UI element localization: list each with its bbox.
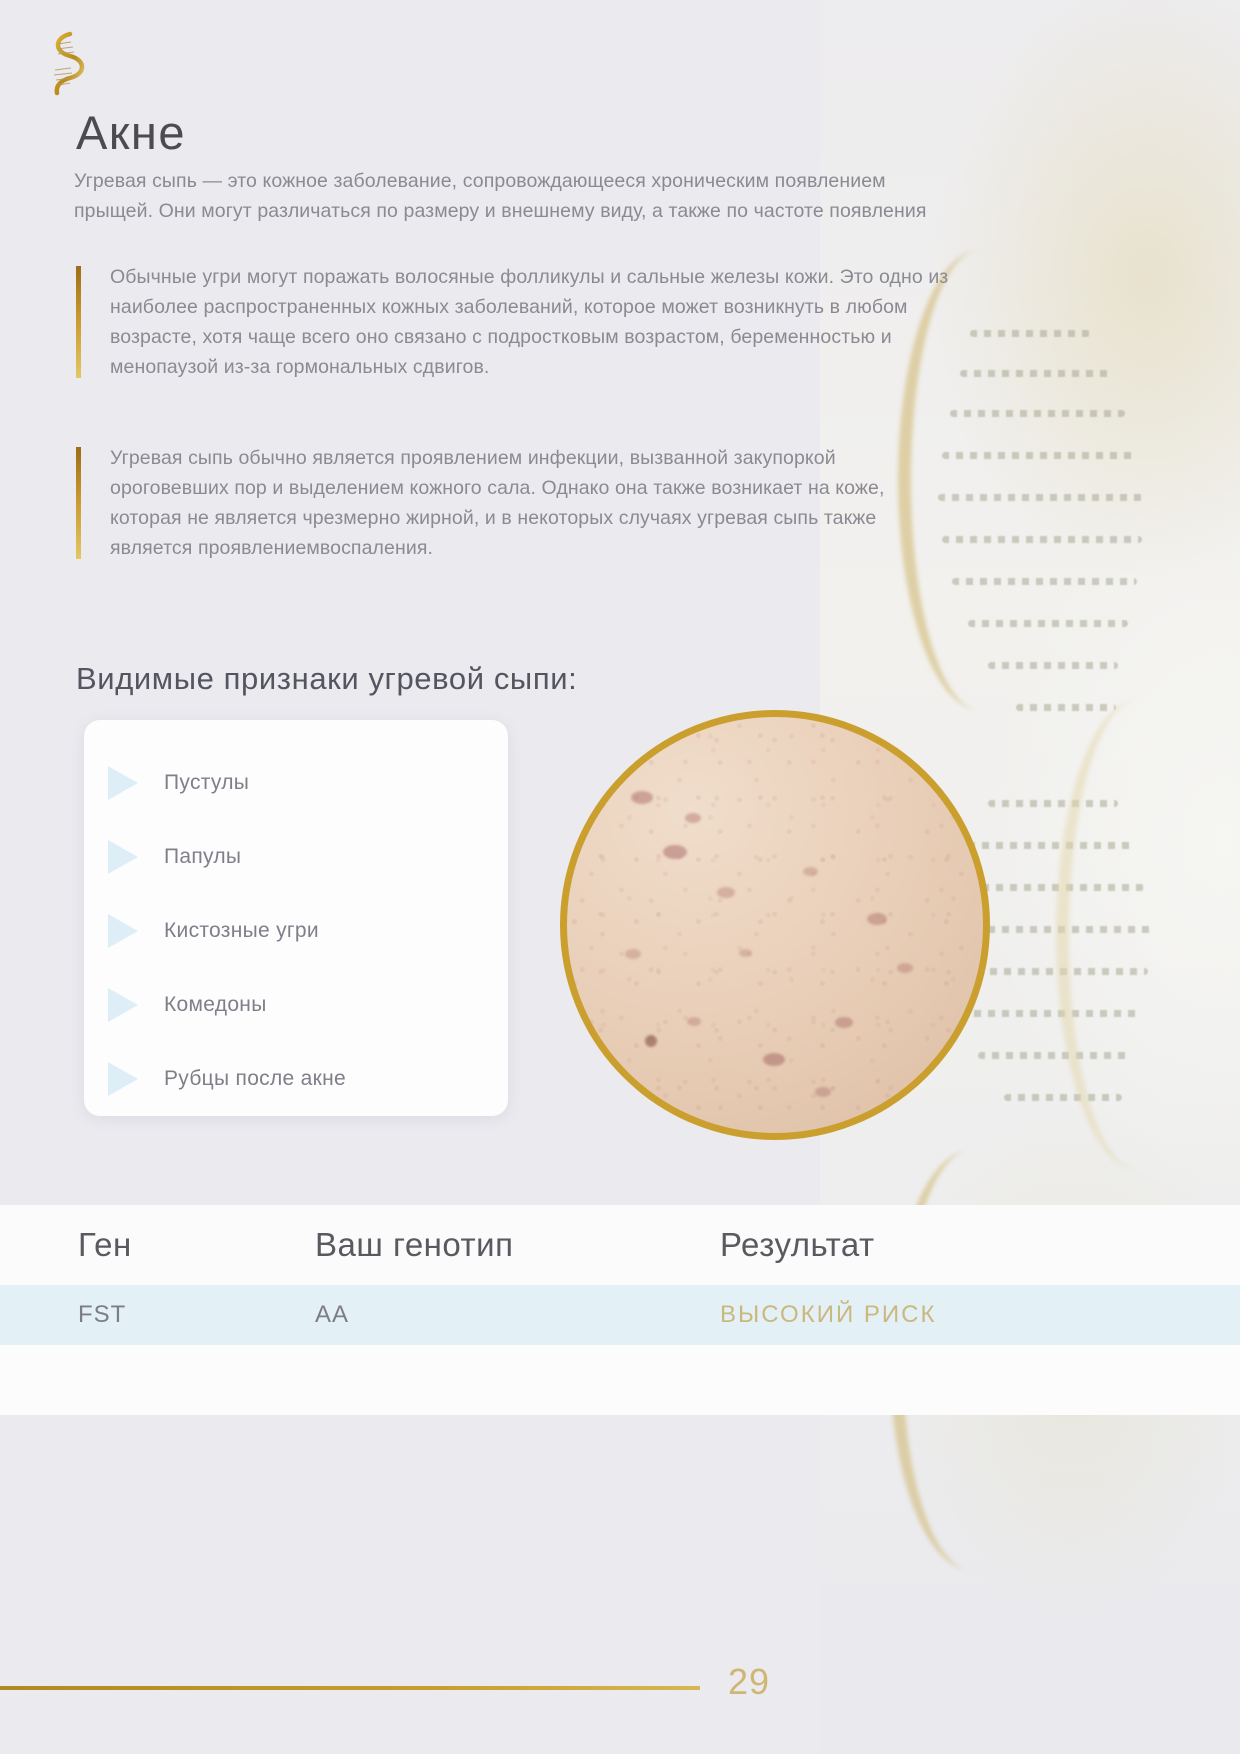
dna-rung	[950, 410, 1125, 417]
dna-rung	[938, 494, 1143, 501]
acne-spot	[717, 887, 735, 898]
triangle-bullet-icon	[108, 840, 138, 874]
sign-label: Кистозные угри	[164, 919, 319, 943]
skin-texture	[567, 717, 983, 1133]
acne-spot	[663, 845, 687, 859]
dna-rung	[942, 452, 1137, 459]
acne-spot	[631, 791, 653, 804]
table-header-row: Ген Ваш генотип Результат	[0, 1205, 1240, 1285]
dna-rung	[970, 330, 1090, 337]
table-row: FST AA ВЫСОКИЙ РИСК	[0, 1285, 1240, 1345]
skin-closeup-image	[560, 710, 990, 1140]
acne-spot	[897, 963, 913, 973]
acne-spot	[803, 867, 818, 876]
footer-divider	[0, 1686, 700, 1690]
status-badge-result: ВЫСОКИЙ РИСК	[720, 1301, 1160, 1329]
dna-rung	[952, 578, 1137, 585]
triangle-bullet-icon	[108, 1062, 138, 1096]
dna-rung	[968, 842, 1133, 849]
cell-genotype: AA	[315, 1301, 720, 1329]
dna-strand	[1056, 700, 1219, 1170]
signs-card: Пустулы Папулы Кистозные угри Комедоны Р…	[84, 720, 508, 1116]
list-item: Пустулы	[84, 746, 508, 820]
quote-block-1: Обычные угри могут поражать волосяные фо…	[76, 262, 956, 382]
dna-rung	[1016, 704, 1116, 711]
sign-label: Комедоны	[164, 993, 267, 1017]
document-page: Акне Угревая сыпь — это кожное заболеван…	[0, 0, 1240, 1754]
dna-rung	[968, 620, 1128, 627]
acne-spot	[815, 1087, 831, 1097]
acne-spot	[645, 1035, 657, 1047]
dna-rung	[978, 1052, 1128, 1059]
acne-spot	[739, 949, 752, 957]
triangle-bullet-icon	[108, 988, 138, 1022]
list-item: Рубцы после акне	[84, 1042, 508, 1116]
dna-rung	[988, 662, 1118, 669]
dna-rung	[988, 800, 1118, 807]
section-heading-signs: Видимые признаки угревой сыпи:	[76, 661, 577, 697]
dna-rung	[1004, 1094, 1122, 1101]
dna-rung	[960, 1010, 1140, 1017]
dna-helix-logo	[44, 28, 86, 98]
acne-spot	[763, 1053, 785, 1066]
sign-label: Папулы	[164, 845, 241, 869]
triangle-bullet-icon	[108, 914, 138, 948]
acne-spot	[835, 1017, 853, 1028]
table-footer-spacer	[0, 1345, 1240, 1415]
column-header-result: Результат	[720, 1226, 1160, 1264]
page-title: Акне	[76, 105, 186, 160]
acne-spot	[685, 813, 701, 823]
column-header-gene: Ген	[0, 1226, 315, 1264]
triangle-bullet-icon	[108, 766, 138, 800]
list-item: Комедоны	[84, 968, 508, 1042]
intro-paragraph: Угревая сыпь — это кожное заболевание, с…	[74, 166, 964, 226]
sign-label: Рубцы после акне	[164, 1067, 346, 1091]
page-number: 29	[728, 1661, 770, 1703]
column-header-genotype: Ваш генотип	[315, 1226, 720, 1264]
acne-spot	[625, 949, 641, 959]
acne-spot	[867, 913, 887, 925]
list-item: Папулы	[84, 820, 508, 894]
dna-rung	[960, 370, 1110, 377]
results-table: Ген Ваш генотип Результат FST AA ВЫСОКИЙ…	[0, 1205, 1240, 1415]
cell-gene: FST	[0, 1301, 315, 1329]
list-item: Кистозные угри	[84, 894, 508, 968]
acne-spot	[687, 1017, 701, 1026]
dna-rung	[942, 536, 1142, 543]
quote-block-2: Угревая сыпь обычно является проявлением…	[76, 443, 956, 563]
sign-label: Пустулы	[164, 771, 249, 795]
